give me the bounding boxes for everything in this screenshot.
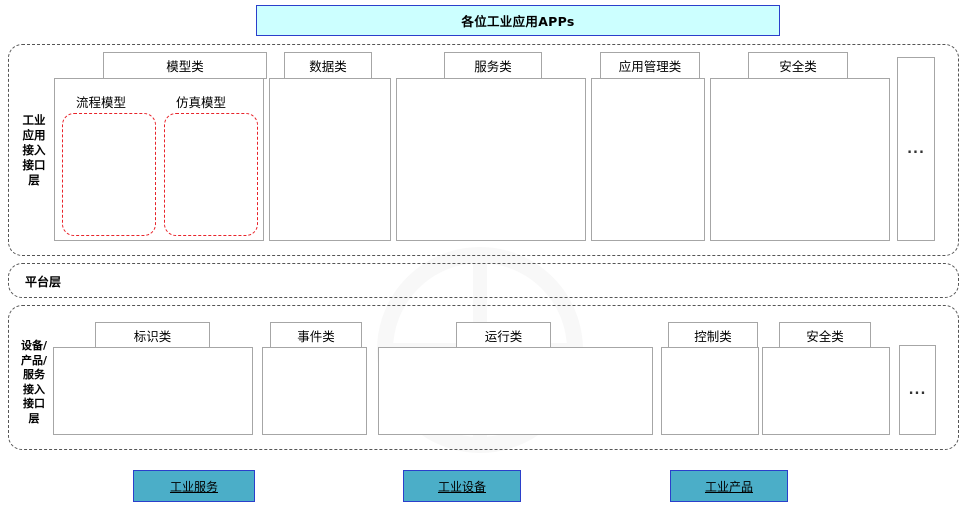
group-header-security-label: 安全类 (779, 56, 817, 75)
bottom-box-industrial-product-label: 工业产品 (705, 478, 753, 495)
group-header-runtime[interactable]: 运行类 (456, 322, 551, 348)
group-header-model[interactable]: 模型类 (103, 52, 267, 79)
dev-label-l6: 层 (10, 412, 58, 427)
group-header-data[interactable]: 数据类 (284, 52, 372, 79)
platform-layer-label: 平台层 (25, 273, 61, 290)
bottom-box-industrial-device-label: 工业设备 (438, 478, 486, 495)
application-more-box[interactable]: ... (897, 57, 935, 241)
group-header-identifier-label: 标识类 (134, 326, 172, 345)
group-header-security[interactable]: 安全类 (748, 52, 848, 79)
group-header-data-label: 数据类 (309, 56, 347, 75)
group-header-event-label: 事件类 (297, 326, 335, 345)
group-header-service[interactable]: 服务类 (444, 52, 542, 79)
subgroup-label-simulation-model: 仿真模型 (176, 92, 226, 111)
device-layer-label: 设备/ 产品/ 服务 接入 接口 层 (10, 339, 58, 426)
diagram-canvas: 各位工业应用APPs 工业 应用 接入 接口 层 平台层 设备/ 产品/ 服务 … (0, 0, 967, 513)
group-header-device-security[interactable]: 安全类 (779, 322, 871, 348)
group-header-control-label: 控制类 (694, 326, 732, 345)
device-more-box[interactable]: ... (899, 345, 936, 435)
group-body-event (262, 347, 367, 435)
application-more-label: ... (907, 142, 925, 157)
group-header-app-management-label: 应用管理类 (619, 56, 682, 75)
group-body-control (661, 347, 759, 435)
dev-label-l4: 接入 (10, 383, 58, 398)
dev-label-l3: 服务 (10, 368, 58, 383)
app-label-l3: 接入 (13, 143, 55, 158)
group-body-security (710, 78, 890, 241)
group-body-identifier (53, 347, 253, 435)
group-header-control[interactable]: 控制类 (668, 322, 758, 348)
bottom-box-industrial-product[interactable]: 工业产品 (670, 470, 788, 502)
group-header-model-label: 模型类 (166, 56, 204, 75)
group-body-data (269, 78, 391, 241)
top-banner-industrial-apps: 各位工业应用APPs (256, 5, 780, 36)
bottom-box-industrial-device[interactable]: 工业设备 (403, 470, 521, 502)
device-more-label: ... (909, 383, 927, 398)
dev-label-l2: 产品/ (10, 354, 58, 369)
group-header-service-label: 服务类 (474, 56, 512, 75)
application-layer-label: 工业 应用 接入 接口 层 (13, 113, 55, 188)
top-banner-label: 各位工业应用APPs (461, 11, 574, 30)
app-label-l2: 应用 (13, 128, 55, 143)
group-header-identifier[interactable]: 标识类 (95, 322, 210, 348)
layer-platform (8, 263, 959, 298)
group-header-app-management[interactable]: 应用管理类 (600, 52, 700, 79)
group-body-runtime (378, 347, 653, 435)
group-header-event[interactable]: 事件类 (270, 322, 362, 348)
bottom-box-industrial-service-label: 工业服务 (170, 478, 218, 495)
dev-label-l1: 设备/ (10, 339, 58, 354)
group-body-service (396, 78, 586, 241)
dev-label-l5: 接口 (10, 397, 58, 412)
subgroup-label-process-model: 流程模型 (76, 92, 126, 111)
app-label-l1: 工业 (13, 113, 55, 128)
app-label-l5: 层 (13, 173, 55, 188)
app-label-l4: 接口 (13, 158, 55, 173)
group-header-device-security-label: 安全类 (806, 326, 844, 345)
group-header-runtime-label: 运行类 (485, 326, 523, 345)
group-body-device-security (762, 347, 890, 435)
bottom-box-industrial-service[interactable]: 工业服务 (133, 470, 255, 502)
group-body-app-management (591, 78, 705, 241)
